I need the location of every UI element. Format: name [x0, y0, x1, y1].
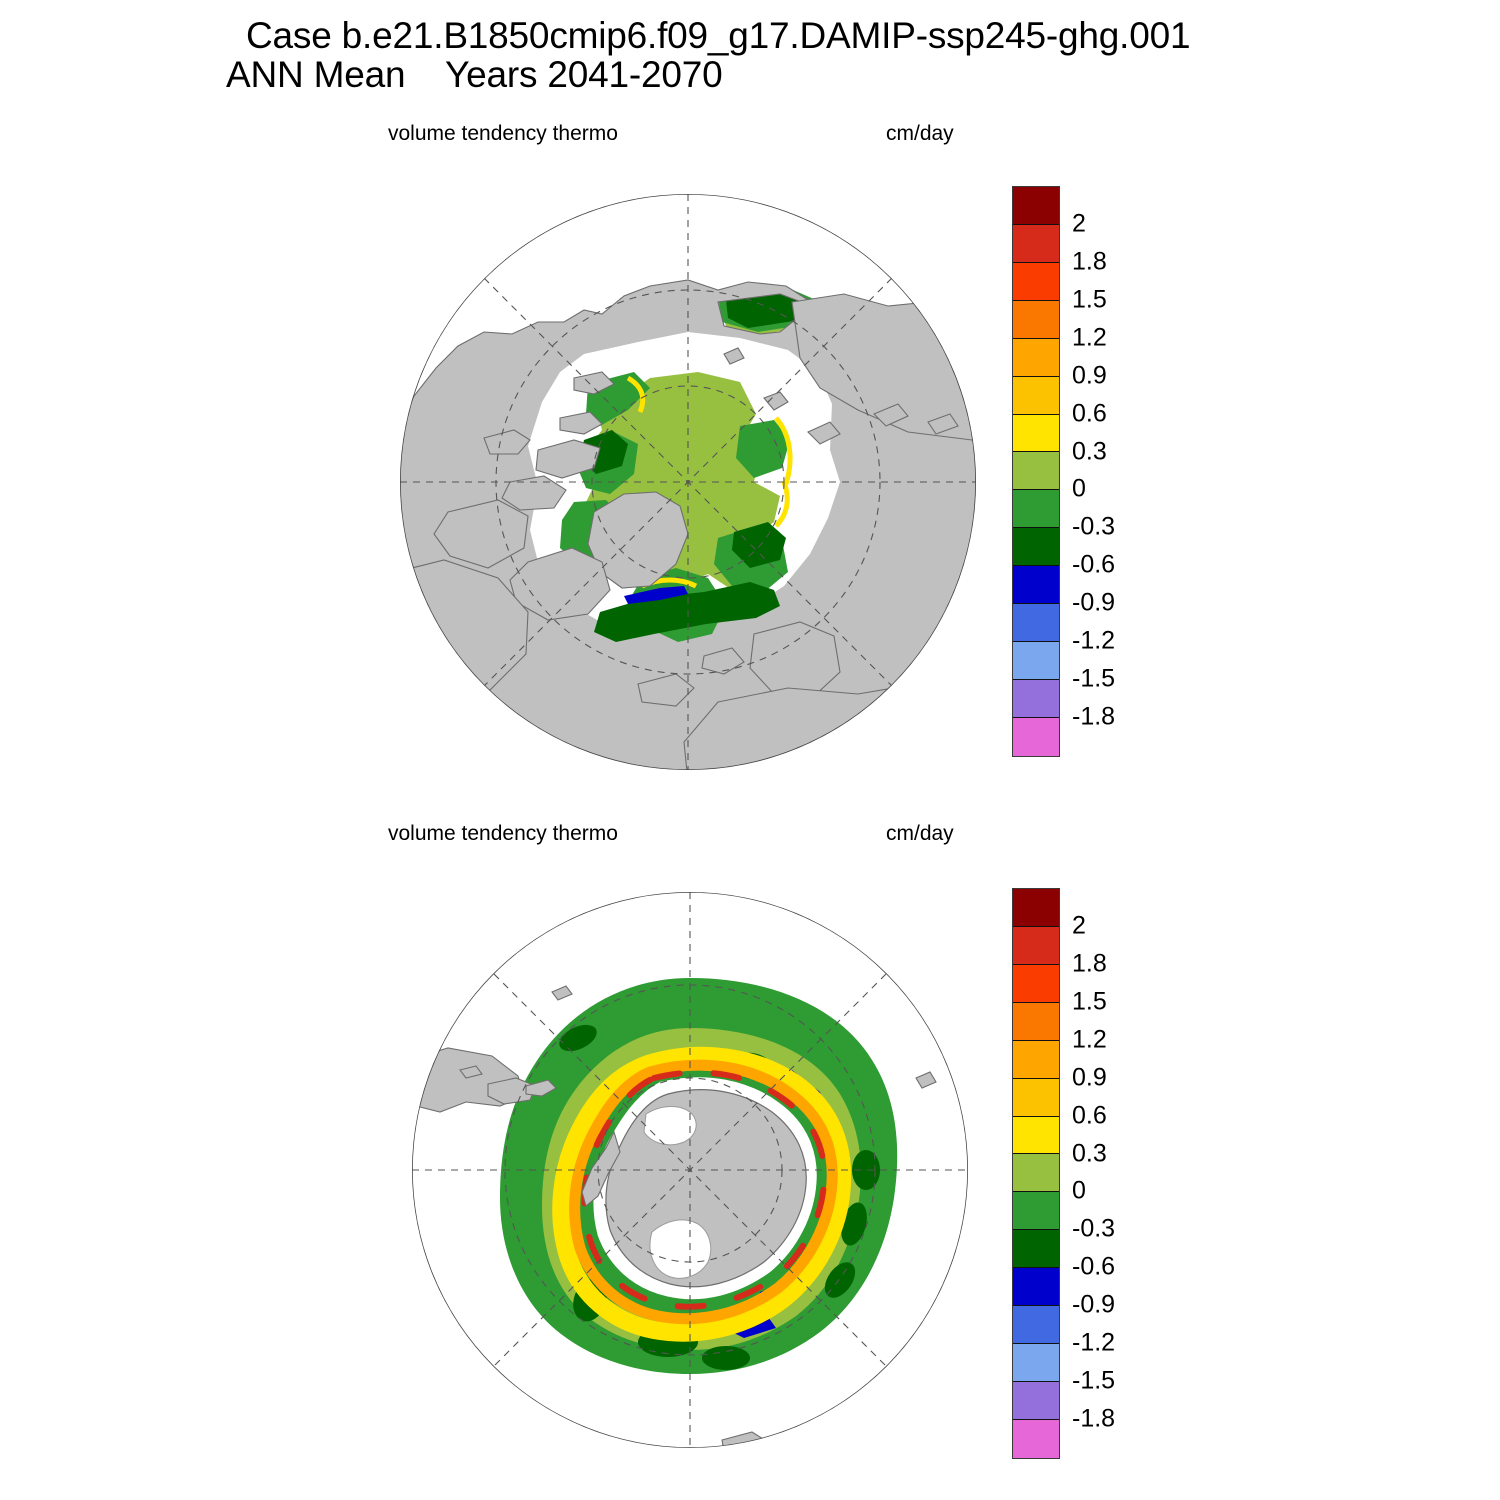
colorbar-tick-label-3: 1.2	[1072, 323, 1107, 352]
colorbar-tick-label-2: 1.5	[1072, 285, 1107, 314]
colorbar-tick-label-6: 0.3	[1072, 437, 1107, 466]
colorbar-band-12[interactable]	[1013, 642, 1059, 680]
colorbar-band-1[interactable]	[1013, 927, 1059, 965]
antarctic-variable-label: volume tendency thermo	[388, 822, 618, 846]
colorbar-band-10[interactable]	[1013, 566, 1059, 604]
title-line-1: Case b.e21.B1850cmip6.f09_g17.DAMIP-ssp2…	[246, 16, 1190, 55]
figure-canvas: Case b.e21.B1850cmip6.f09_g17.DAMIP-ssp2…	[0, 0, 1500, 1500]
arctic-colorbar-strip[interactable]	[1012, 186, 1060, 757]
colorbar-tick-label-6: 0.3	[1072, 1139, 1107, 1168]
colorbar-band-2[interactable]	[1013, 965, 1059, 1003]
colorbar-band-8[interactable]	[1013, 1192, 1059, 1230]
antarctic-map-panel	[400, 880, 980, 1460]
antarctic-graticule	[412, 892, 968, 1448]
colorbar-band-14[interactable]	[1013, 1420, 1059, 1458]
colorbar-tick-label-8: -0.3	[1072, 1215, 1115, 1244]
colorbar-tick-label-10: -0.9	[1072, 1291, 1115, 1320]
colorbar-tick-label-7: 0	[1072, 475, 1086, 504]
colorbar-band-9[interactable]	[1013, 528, 1059, 566]
colorbar-band-5[interactable]	[1013, 1079, 1059, 1117]
colorbar-tick-label-3: 1.2	[1072, 1025, 1107, 1054]
colorbar-band-2[interactable]	[1013, 263, 1059, 301]
colorbar-band-11[interactable]	[1013, 1306, 1059, 1344]
colorbar-tick-label-5: 0.6	[1072, 1101, 1107, 1130]
antarctic-map-svg	[400, 880, 980, 1460]
colorbar-tick-label-13: -1.8	[1072, 1405, 1115, 1434]
colorbar-band-9[interactable]	[1013, 1230, 1059, 1268]
colorbar-tick-label-11: -1.2	[1072, 1329, 1115, 1358]
arctic-map-svg	[388, 182, 988, 782]
colorbar-band-12[interactable]	[1013, 1344, 1059, 1382]
colorbar-band-0[interactable]	[1013, 889, 1059, 927]
colorbar-tick-label-5: 0.6	[1072, 399, 1107, 428]
colorbar-band-5[interactable]	[1013, 377, 1059, 415]
arctic-colorbar[interactable]: 21.81.51.20.90.60.30-0.3-0.6-0.9-1.2-1.5…	[1012, 186, 1162, 756]
colorbar-tick-label-4: 0.9	[1072, 1063, 1107, 1092]
arctic-units-label: cm/day	[886, 122, 954, 146]
colorbar-tick-label-0: 2	[1072, 911, 1086, 940]
title-line-2: ANN Mean Years 2041-2070	[226, 55, 1190, 94]
colorbar-band-6[interactable]	[1013, 415, 1059, 453]
colorbar-band-8[interactable]	[1013, 490, 1059, 528]
colorbar-tick-label-8: -0.3	[1072, 513, 1115, 542]
colorbar-tick-label-9: -0.6	[1072, 1253, 1115, 1282]
colorbar-tick-label-10: -0.9	[1072, 589, 1115, 618]
arctic-variable-label: volume tendency thermo	[388, 122, 618, 146]
colorbar-tick-label-12: -1.5	[1072, 665, 1115, 694]
colorbar-band-7[interactable]	[1013, 1154, 1059, 1192]
colorbar-band-0[interactable]	[1013, 187, 1059, 225]
colorbar-band-7[interactable]	[1013, 452, 1059, 490]
colorbar-band-3[interactable]	[1013, 301, 1059, 339]
colorbar-band-4[interactable]	[1013, 339, 1059, 377]
colorbar-band-3[interactable]	[1013, 1003, 1059, 1041]
colorbar-tick-label-1: 1.8	[1072, 949, 1107, 978]
antarctic-colorbar-strip[interactable]	[1012, 888, 1060, 1459]
colorbar-tick-label-12: -1.5	[1072, 1367, 1115, 1396]
colorbar-band-13[interactable]	[1013, 1382, 1059, 1420]
colorbar-tick-label-2: 1.5	[1072, 987, 1107, 1016]
colorbar-band-1[interactable]	[1013, 225, 1059, 263]
colorbar-tick-label-1: 1.8	[1072, 247, 1107, 276]
colorbar-band-11[interactable]	[1013, 604, 1059, 642]
colorbar-tick-label-9: -0.6	[1072, 551, 1115, 580]
colorbar-band-13[interactable]	[1013, 680, 1059, 718]
arctic-map-panel	[388, 182, 988, 782]
antarctic-colorbar[interactable]: 21.81.51.20.90.60.30-0.3-0.6-0.9-1.2-1.5…	[1012, 888, 1162, 1458]
colorbar-tick-label-7: 0	[1072, 1177, 1086, 1206]
colorbar-band-10[interactable]	[1013, 1268, 1059, 1306]
colorbar-tick-label-11: -1.2	[1072, 627, 1115, 656]
figure-title: Case b.e21.B1850cmip6.f09_g17.DAMIP-ssp2…	[246, 16, 1190, 94]
antarctic-units-label: cm/day	[886, 822, 954, 846]
colorbar-tick-label-4: 0.9	[1072, 361, 1107, 390]
colorbar-band-6[interactable]	[1013, 1117, 1059, 1155]
colorbar-band-14[interactable]	[1013, 718, 1059, 756]
colorbar-band-4[interactable]	[1013, 1041, 1059, 1079]
colorbar-tick-label-0: 2	[1072, 209, 1086, 238]
colorbar-tick-label-13: -1.8	[1072, 703, 1115, 732]
